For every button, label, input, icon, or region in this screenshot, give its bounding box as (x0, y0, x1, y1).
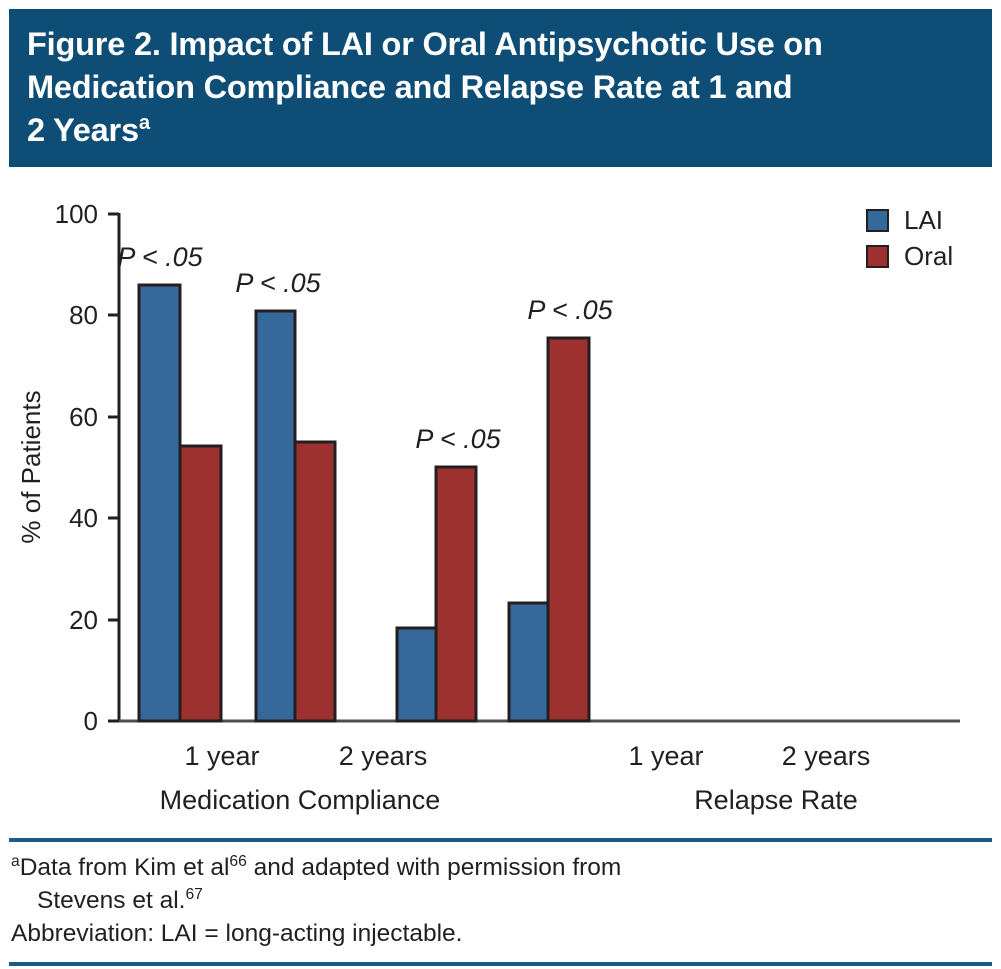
legend-item-lai: LAI (866, 202, 996, 238)
y-tick-label: 100 (55, 199, 98, 229)
legend-swatch-oral-icon (866, 245, 889, 268)
y-tick-label: 40 (69, 503, 98, 533)
footnote-source-text-pre: Data from Kim et al (20, 854, 230, 881)
legend-swatch-lai-icon (866, 209, 889, 232)
legend-label-lai: LAI (904, 205, 943, 236)
pvalue-annotation-relapse-1year: P < .05 (415, 424, 501, 454)
bar-lai-relapse-1year (397, 628, 436, 721)
y-tick-label: 60 (69, 402, 98, 432)
pvalue-annotation-relapse-2year: P < .05 (527, 295, 613, 325)
bar-lai-compliance-2year (256, 311, 295, 721)
title-footnote-marker: a (139, 112, 150, 134)
footnote-source-text-post: and adapted with permission from (247, 854, 622, 881)
pvalue-annotation-compliance-1year: P < .05 (117, 242, 203, 272)
y-axis-title: % of Patients (16, 390, 46, 543)
footnote-rule-bottom (9, 962, 992, 966)
chart-plot-area: 100 80 60 40 20 0 % of Patients (0, 167, 1001, 837)
legend-item-oral: Oral (866, 238, 996, 274)
bar-oral-compliance-2year (295, 442, 335, 721)
footnote-marker-a: a (11, 853, 20, 870)
chart-legend: LAI Oral (866, 202, 996, 274)
x-axis-tick-labels: 1 year 2 years 1 year 2 years (184, 741, 870, 771)
bar-oral-relapse-1year (436, 467, 476, 721)
y-tick-label: 80 (69, 300, 98, 330)
figure-footnotes: aData from Kim et al66 and adapted with … (9, 838, 992, 966)
pvalue-annotation-compliance-2year: P < .05 (235, 268, 321, 298)
title-line-2: Medication Compliance and Relapse Rate a… (27, 69, 792, 105)
page-title: Figure 2. Impact of LAI or Oral Antipsyc… (27, 23, 974, 152)
footnote-reference-66: 66 (229, 853, 246, 870)
y-tick-label: 0 (84, 706, 98, 736)
footnote-block: aData from Kim et al66 and adapted with … (9, 842, 992, 956)
y-tick-label: 20 (69, 605, 98, 635)
y-axis-ticks (108, 214, 119, 721)
x-axis-group-labels: Medication Compliance Relapse Rate (160, 785, 858, 815)
x-tick-label: 1 year (628, 741, 703, 771)
x-tick-label: 1 year (184, 741, 259, 771)
x-group-label: Relapse Rate (694, 785, 858, 815)
footnote-source-text-line2: Stevens et al. (37, 887, 185, 914)
title-line-3: 2 Years (27, 112, 139, 148)
bar-lai-relapse-2year (509, 603, 548, 721)
bar-oral-relapse-2year (548, 338, 589, 721)
x-tick-label: 2 years (782, 741, 871, 771)
bar-oral-compliance-1year (180, 446, 221, 721)
figure-container: Figure 2. Impact of LAI or Oral Antipsyc… (0, 0, 1001, 969)
footnote-abbreviation: Abbreviation: LAI = long-acting injectab… (11, 917, 990, 950)
footnote-reference-67: 67 (185, 886, 202, 903)
bar-chart-svg: 100 80 60 40 20 0 % of Patients (0, 167, 1001, 837)
footnote-source-line2: Stevens et al.67 (11, 884, 990, 917)
x-tick-label: 2 years (339, 741, 428, 771)
footnote-source-line1: aData from Kim et al66 and adapted with … (11, 851, 990, 884)
y-axis-tick-labels: 100 80 60 40 20 0 (55, 199, 98, 736)
x-group-label: Medication Compliance (160, 785, 441, 815)
legend-label-oral: Oral (904, 241, 953, 272)
figure-title-band: Figure 2. Impact of LAI or Oral Antipsyc… (9, 9, 992, 167)
bar-lai-compliance-1year (139, 285, 180, 721)
title-line-1: Figure 2. Impact of LAI or Oral Antipsyc… (27, 26, 823, 62)
